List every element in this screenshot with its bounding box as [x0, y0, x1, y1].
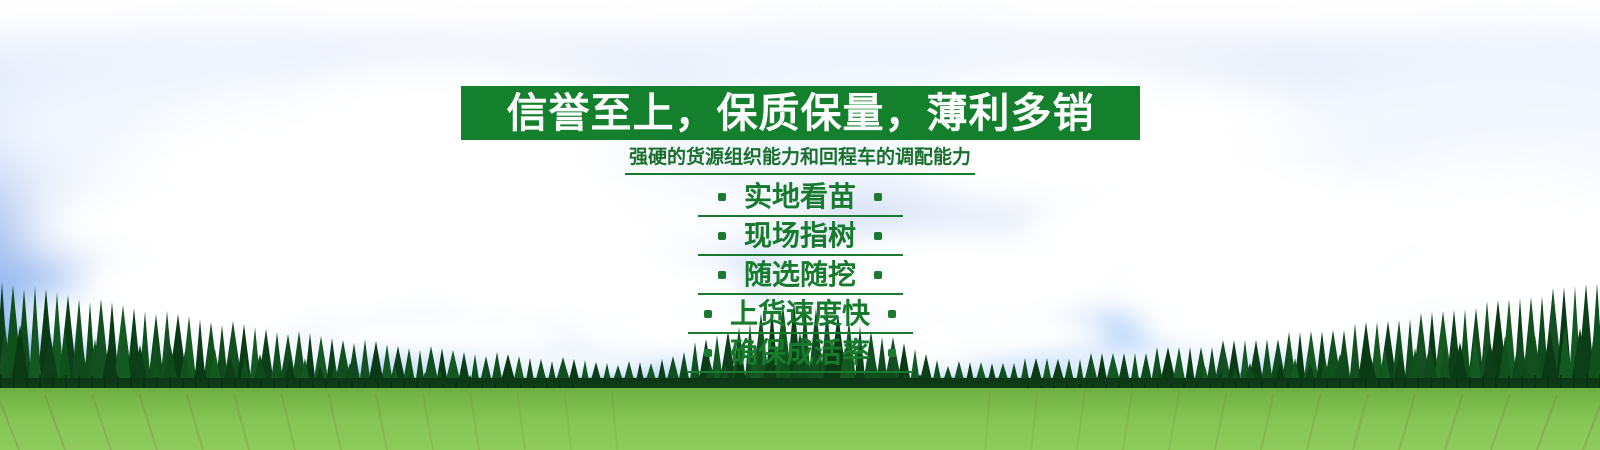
field-furrow [186, 394, 204, 450]
bullet-dot-left [704, 349, 712, 357]
feature-row: 上货速度快 [704, 295, 896, 332]
bullet-dot-right [874, 193, 882, 201]
field-furrow [91, 395, 112, 450]
field-furrow [1398, 394, 1416, 450]
feature-label: 现场指树 [744, 222, 856, 250]
field-furrow [469, 393, 480, 450]
field-furrow [1582, 396, 1600, 450]
field-furrow [327, 393, 342, 450]
field-furrow [1444, 394, 1463, 450]
field-furrow [44, 395, 66, 450]
field-furrow [1168, 393, 1180, 450]
bullet-dot-right [874, 271, 882, 279]
field-furrows [0, 388, 1600, 450]
bullet-dot-left [718, 271, 726, 279]
field-furrow [1076, 392, 1086, 450]
bullet-dot-right [888, 310, 896, 318]
bullet-dot-right [888, 349, 896, 357]
field-furrow [564, 392, 572, 450]
field-furrow [984, 392, 991, 450]
hero-banner: 信誉至上，保质保量，薄利多销 强硬的货源组织能力和回程车的调配能力 实地看苗现场… [0, 0, 1600, 450]
bullet-dot-left [718, 193, 726, 201]
field-furrow [1260, 393, 1275, 450]
field-furrow [0, 396, 20, 450]
field-furrow [233, 394, 250, 450]
field-furrow [1214, 393, 1227, 450]
field-furrow [1122, 393, 1133, 450]
feature-separator-rule [688, 371, 913, 373]
field-furrow [1352, 394, 1369, 450]
bullet-dot-left [704, 310, 712, 318]
feature-row: 随选随挖 [718, 256, 882, 293]
field-furrow [516, 392, 526, 450]
feature-label: 随选随挖 [744, 261, 856, 289]
feature-row: 现场指树 [718, 217, 882, 254]
field-furrow [1490, 395, 1511, 450]
field-furrow [1030, 392, 1038, 450]
field-furrow [1306, 393, 1322, 450]
field-furrow [422, 393, 434, 450]
feature-row: 确保成活率 [704, 334, 896, 371]
field-furrow [280, 393, 296, 450]
feature-row: 实地看苗 [718, 178, 882, 215]
subtitle-container: 强硬的货源组织能力和回程车的调配能力 [0, 146, 1600, 175]
headline-text: 信誉至上，保质保量，薄利多销 [507, 93, 1095, 134]
feature-label: 上货速度快 [730, 300, 870, 328]
field-furrow [1536, 395, 1558, 450]
field-furrow [139, 394, 158, 450]
feature-list: 实地看苗现场指树随选随挖上货速度快确保成活率 [0, 178, 1600, 373]
field-furrow [611, 392, 618, 450]
feature-label: 实地看苗 [744, 183, 856, 211]
headline-plate: 信誉至上，保质保量，薄利多销 [461, 86, 1140, 140]
bullet-dot-right [874, 232, 882, 240]
feature-label: 确保成活率 [730, 339, 870, 367]
field-furrow [375, 393, 388, 450]
bullet-dot-left [718, 232, 726, 240]
subtitle-text: 强硬的货源组织能力和回程车的调配能力 [625, 146, 975, 175]
